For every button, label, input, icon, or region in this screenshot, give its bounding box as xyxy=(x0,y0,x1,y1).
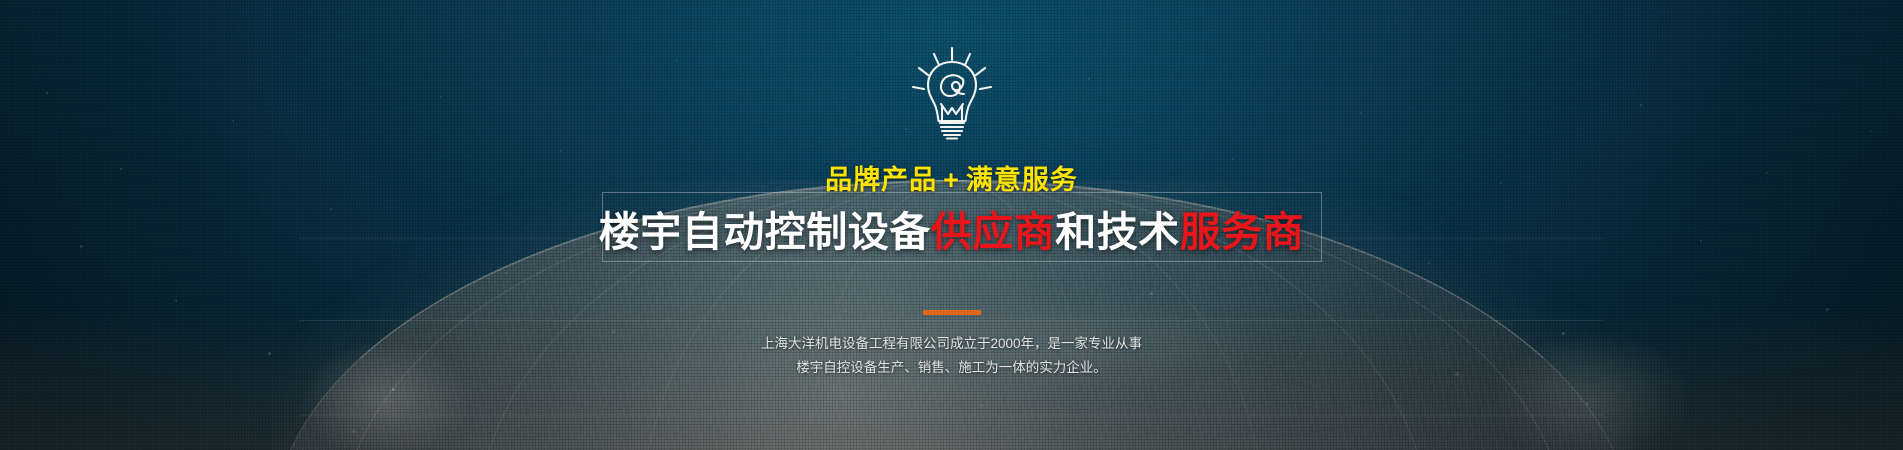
subtitle: 上海大洋机电设备工程有限公司成立于2000年，是一家专业从事 楼宇自控设备生产、… xyxy=(0,332,1903,380)
headline-part-3: 和技术 xyxy=(1055,209,1180,255)
page-title: 楼宇自动控制设备供应商和技术服务商 xyxy=(0,202,1903,262)
hero-banner: 品牌产品+满意服务 楼宇自动控制设备供应商和技术服务商 上海大洋机电设备工程有限… xyxy=(0,0,1903,450)
lightbulb-icon xyxy=(898,44,1006,142)
tagline: 品牌产品+满意服务 xyxy=(0,164,1903,196)
orange-rule xyxy=(923,310,981,315)
subtitle-line-1: 上海大洋机电设备工程有限公司成立于2000年，是一家专业从事 xyxy=(0,332,1903,356)
tagline-left: 品牌产品 xyxy=(825,165,937,195)
headline-part-1: 楼宇自动控制设备 xyxy=(599,209,931,255)
banner-content: 品牌产品+满意服务 楼宇自动控制设备供应商和技术服务商 上海大洋机电设备工程有限… xyxy=(0,0,1903,450)
headline-part-4: 服务商 xyxy=(1180,209,1305,255)
subtitle-line-2: 楼宇自控设备生产、销售、施工为一体的实力企业。 xyxy=(0,356,1903,380)
tagline-right: 满意服务 xyxy=(966,165,1078,195)
tagline-plus: + xyxy=(937,165,966,195)
headline-part-2: 供应商 xyxy=(931,209,1056,255)
